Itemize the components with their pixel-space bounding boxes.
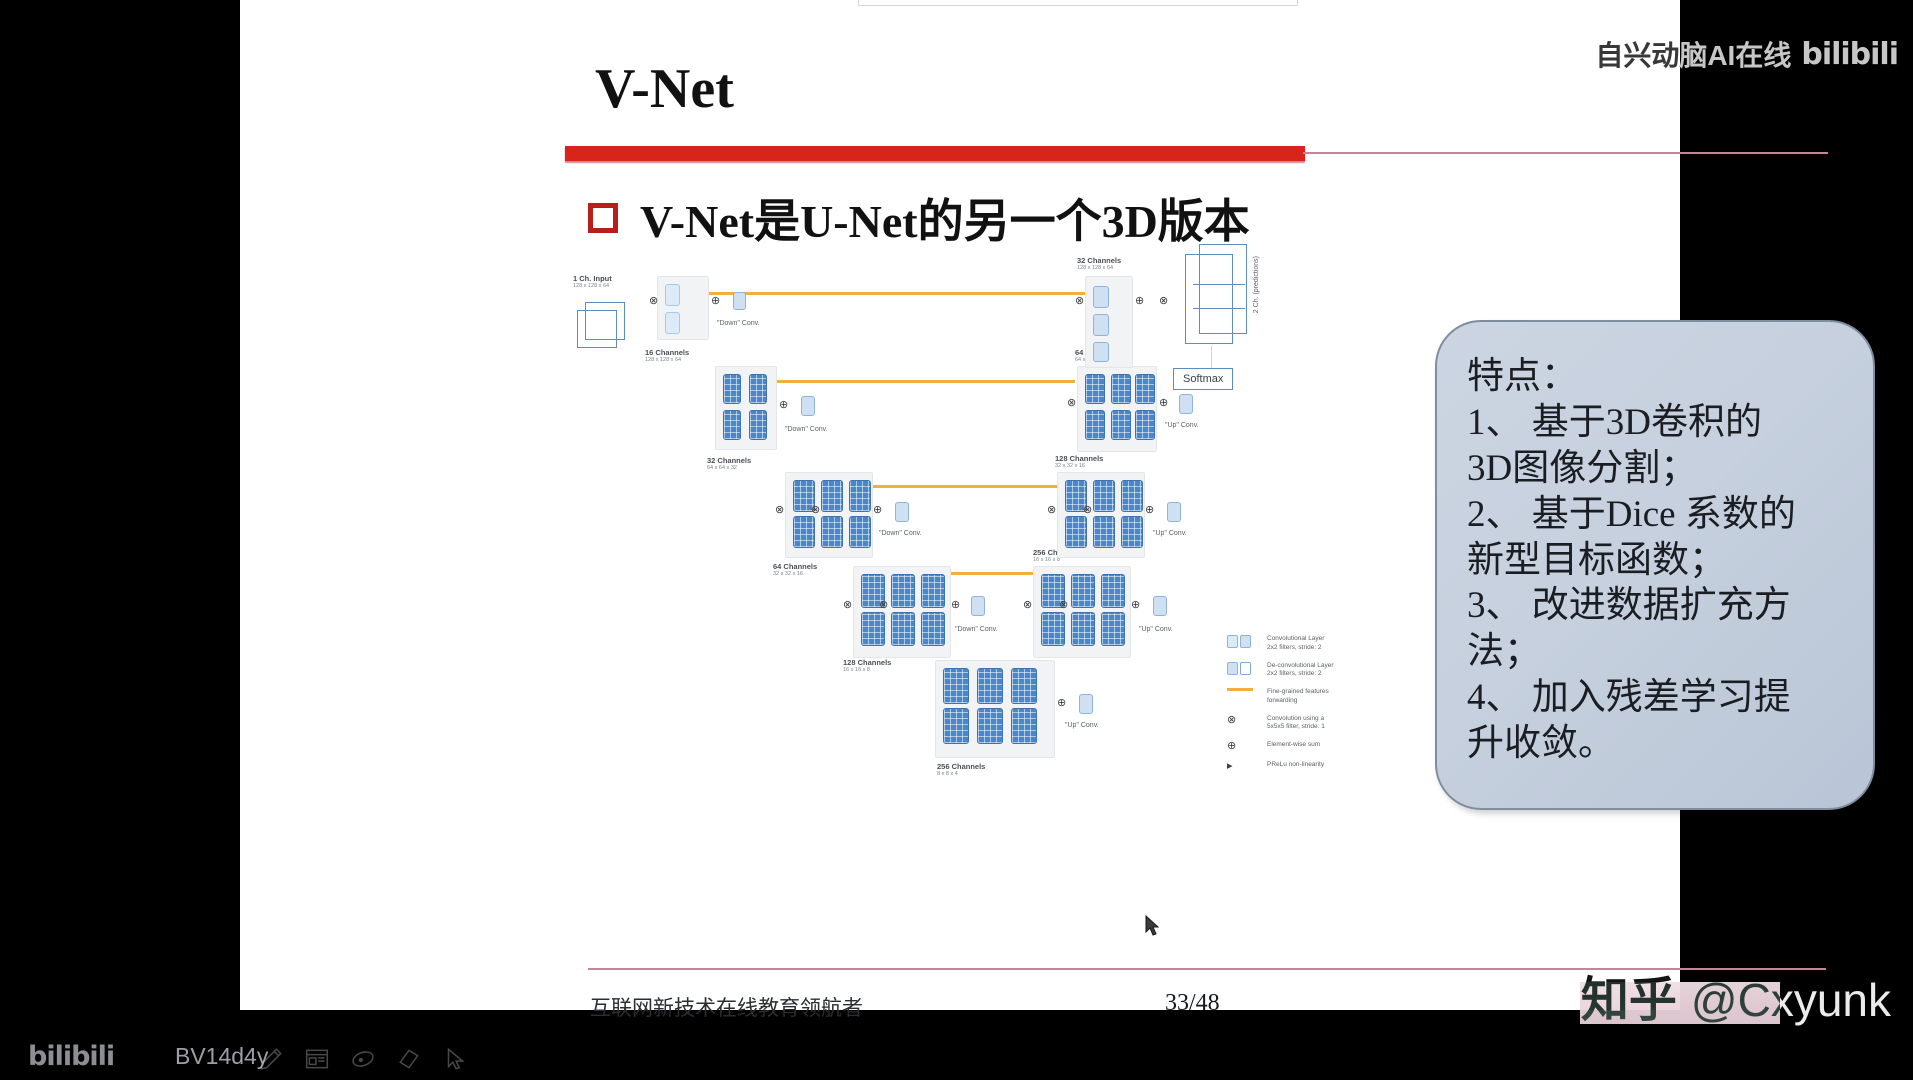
conv-symbol: ⊗ — [1067, 398, 1076, 409]
screen: V-Net V-Net是U-Net的另一个3D版本 1 Ch. Input 12… — [0, 0, 1913, 1080]
sum-symbol: ⊕ — [1145, 505, 1154, 516]
ellipse-icon[interactable] — [350, 1046, 376, 1072]
eraser-icon[interactable] — [396, 1046, 422, 1072]
conv-symbol: ⊗ — [649, 296, 658, 307]
stage-label-1: 1 Ch. Input 128 x 128 x 64 — [573, 274, 612, 290]
down-conv-label: "Down" Conv. — [879, 530, 922, 539]
zhihu-mark-text: 知乎 — [1581, 960, 1677, 1030]
orange-line-icon — [1227, 688, 1261, 691]
feature-volume — [1041, 612, 1065, 646]
feature-volume — [1101, 612, 1125, 646]
sum-symbol: ⊕ — [873, 505, 882, 516]
up-conv-label: "Up" Conv. — [1165, 422, 1199, 431]
up-conv-label: "Up" Conv. — [1153, 530, 1187, 539]
zhihu-handle-text: @Cxyunk — [1691, 973, 1891, 1027]
cube-edge — [1193, 284, 1245, 285]
feature-volume — [1065, 516, 1087, 548]
feature-line: 3、 改进数据扩充方 — [1467, 583, 1847, 629]
conv-symbol: ⊗ — [775, 505, 784, 516]
down-conv-label: "Down" Conv. — [717, 320, 760, 329]
softmax-label: Softmax — [1173, 368, 1233, 390]
top-edge-artifact — [858, 0, 1298, 6]
pen-icon[interactable] — [258, 1046, 284, 1072]
up-conv-volume — [1179, 394, 1193, 414]
down-conv-label: "Down" Conv. — [955, 626, 998, 635]
skip-connection-1 — [657, 292, 1089, 295]
feature-volume — [1085, 374, 1105, 404]
feature-volume — [943, 708, 969, 744]
feature-volume — [1121, 480, 1143, 512]
down-conv-volume — [733, 292, 746, 310]
sum-symbol: ⊕ — [951, 600, 960, 611]
output-volume-cube — [1199, 244, 1247, 334]
feature-line: 升收敛。 — [1467, 721, 1847, 767]
up-conv-label: "Up" Conv. — [1139, 626, 1173, 635]
feature-volume — [943, 668, 969, 704]
sum-symbol: ⊕ — [1135, 296, 1144, 307]
feature-line: 1、 基于3D卷积的 — [1467, 400, 1847, 446]
feature-volume — [1085, 410, 1105, 440]
feature-volume — [1093, 286, 1109, 308]
conv-symbol: ⊗ — [1159, 296, 1168, 307]
stage-label-dec-1: 32 Channels 128 x 128 x 64 — [1077, 256, 1121, 272]
bilibili-watermark-logo: bilibili — [1801, 37, 1898, 72]
stage-label-3: 32 Channels 64 x 64 x 32 — [707, 456, 751, 472]
up-conv-label: "Up" Conv. — [1065, 722, 1099, 731]
down-conv-label: "Down" Conv. — [785, 426, 828, 435]
conv-symbol: ⊗ — [1075, 296, 1084, 307]
cube-edge — [1193, 308, 1245, 309]
stage-label-5: 128 Channels 16 x 16 x 8 — [843, 658, 891, 674]
feature-line: 特点： — [1467, 354, 1847, 400]
down-conv-volume — [895, 502, 909, 522]
feature-volume — [921, 612, 945, 646]
feature-volume — [723, 410, 741, 440]
feature-volume — [723, 374, 741, 404]
deconv-layer-cubes-icon — [1227, 662, 1261, 675]
up-conv-volume — [1079, 694, 1093, 714]
stage-label-dec-3: 128 Channels 32 x 32 x 16 — [1055, 454, 1103, 470]
slide-page-number: 33/48 — [1165, 990, 1220, 1017]
feature-volume — [891, 612, 915, 646]
feature-volume — [1011, 708, 1037, 744]
conv-symbol: ⊗ — [1083, 505, 1092, 516]
feature-volume — [665, 312, 680, 334]
sum-symbol: ⊕ — [711, 296, 720, 307]
features-callout-box: 特点： 1、 基于3D卷积的 3D图像分割； 2、 基于Dice 系数的 新型目… — [1435, 320, 1875, 810]
feature-volume — [1101, 574, 1125, 608]
title-underline-red — [565, 146, 1305, 161]
footer-tagline: 互联网新技术在线教育领航者 — [590, 992, 863, 1022]
zhihu-watermark: 知乎 @Cxyunk — [1581, 960, 1891, 1030]
feature-volume — [921, 574, 945, 608]
feature-volume — [1093, 314, 1109, 336]
conv-symbol: ⊗ — [1047, 505, 1056, 516]
feature-volume — [1071, 574, 1095, 608]
output-label: 2 Ch. (predictions) — [1253, 256, 1262, 313]
stage-label-2: 16 Channels 128 x 128 x 64 — [645, 348, 689, 364]
feature-volume — [1093, 516, 1115, 548]
feature-volume — [977, 668, 1003, 704]
bullet-row: V-Net是U-Net的另一个3D版本 — [588, 185, 1250, 251]
annotation-toolbar — [258, 1046, 468, 1072]
conv-symbol: ⊗ — [843, 600, 852, 611]
feature-volume — [821, 516, 843, 548]
feature-volume — [749, 374, 767, 404]
sum-symbol: ⊕ — [1131, 600, 1140, 611]
legend-item: ▸ PReLu non-linearity — [1227, 761, 1367, 772]
feature-volume — [849, 516, 871, 548]
legend-item: ⊕ Element-wise sum — [1227, 741, 1367, 752]
legend-item: Fine-grained features forwarding — [1227, 688, 1367, 706]
feature-volume — [1135, 374, 1155, 404]
cursor-icon[interactable] — [442, 1046, 468, 1072]
feature-volume — [1121, 516, 1143, 548]
feature-volume — [793, 516, 815, 548]
down-conv-volume — [801, 396, 815, 416]
page-title: V-Net — [595, 57, 734, 121]
feature-volume — [665, 284, 680, 306]
conv-symbol: ⊗ — [879, 600, 888, 611]
title-underline-thin — [1303, 152, 1828, 154]
player-bottom-bar: bilibili BV14d4y — [0, 1034, 1913, 1080]
legend-item: Convolutional Layer 2x2 filters, stride:… — [1227, 635, 1367, 653]
stage-label-bottleneck: 256 Channels 8 x 8 x 4 — [937, 762, 985, 778]
legend-item: De-convolutional Layer 2x2 filters, stri… — [1227, 662, 1367, 680]
arrow-symbol-icon: ▸ — [1227, 761, 1261, 772]
feature-volume — [1093, 342, 1109, 362]
bilibili-player-logo[interactable]: bilibili — [28, 1041, 114, 1072]
connector — [1211, 346, 1212, 368]
feature-volume — [891, 574, 915, 608]
feature-volume — [849, 480, 871, 512]
feature-volume — [749, 410, 767, 440]
sum-symbol: ⊕ — [1159, 398, 1168, 409]
feature-volume — [1071, 612, 1095, 646]
down-conv-volume — [971, 596, 985, 616]
feature-volume — [1135, 410, 1155, 440]
whiteboard-icon[interactable] — [304, 1046, 330, 1072]
stage-label-4: 64 Channels 32 x 32 x 16 — [773, 562, 817, 578]
feature-line: 4、 加入残差学习提 — [1467, 675, 1847, 721]
conv-symbol: ⊗ — [811, 505, 820, 516]
presentation-slide: V-Net V-Net是U-Net的另一个3D版本 1 Ch. Input 12… — [240, 0, 1680, 1010]
conv-symbol: ⊗ — [1023, 600, 1032, 611]
bullet-text: V-Net是U-Net的另一个3D版本 — [640, 185, 1250, 251]
feature-volume — [1111, 410, 1131, 440]
feature-line: 新型目标函数； — [1467, 538, 1847, 584]
diagram-legend: Convolutional Layer 2x2 filters, stride:… — [1227, 635, 1367, 781]
feature-volume — [1093, 480, 1115, 512]
feature-line: 3D图像分割； — [1467, 446, 1847, 492]
feature-volume — [977, 708, 1003, 744]
conv-symbol: ⊗ — [1059, 600, 1068, 611]
input-volume-cube — [585, 302, 625, 340]
up-conv-volume — [1167, 502, 1181, 522]
square-bullet-icon — [588, 203, 618, 233]
feature-volume — [821, 480, 843, 512]
sum-symbol: ⊕ — [1057, 698, 1066, 709]
feature-volume — [861, 612, 885, 646]
feature-line: 法； — [1467, 629, 1847, 675]
sum-symbol: ⊕ — [779, 400, 788, 411]
feature-volume — [1111, 374, 1131, 404]
video-bvid-label: BV14d4y — [175, 1043, 268, 1070]
v-net-architecture-diagram: 1 Ch. Input 128 x 128 x 64 ⊗ ⊕ "Down" Co… — [615, 300, 1355, 940]
channel-watermark: 自兴动脑AI在线 bilibili — [1595, 34, 1898, 74]
channel-watermark-text: 自兴动脑AI在线 — [1595, 34, 1791, 74]
feature-line: 2、 基于Dice 系数的 — [1467, 492, 1847, 538]
plus-symbol-icon: ⊕ — [1227, 741, 1261, 752]
mouse-cursor-icon — [1145, 915, 1161, 937]
conv-x-symbol-icon: ⊗ — [1227, 715, 1261, 726]
feature-volume — [1011, 668, 1037, 704]
conv-layer-cubes-icon — [1227, 635, 1261, 648]
legend-item: ⊗ Convolution using a 5x5x5 filter, stri… — [1227, 715, 1367, 733]
up-conv-volume — [1153, 596, 1167, 616]
